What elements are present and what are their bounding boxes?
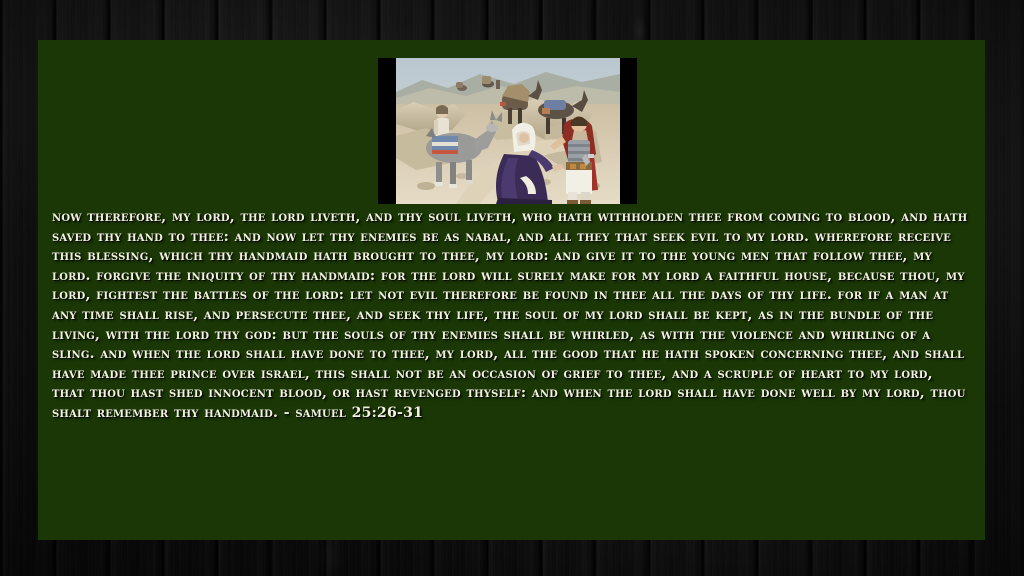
scripture-verse-text: Now therefore, my lord, the Lord liveth,… <box>52 208 970 424</box>
scripture-illustration-frame <box>378 58 637 204</box>
slide-canvas: Now therefore, my lord, the Lord liveth,… <box>0 0 1024 576</box>
content-panel: Now therefore, my lord, the Lord liveth,… <box>38 40 985 540</box>
scripture-illustration <box>396 58 620 204</box>
